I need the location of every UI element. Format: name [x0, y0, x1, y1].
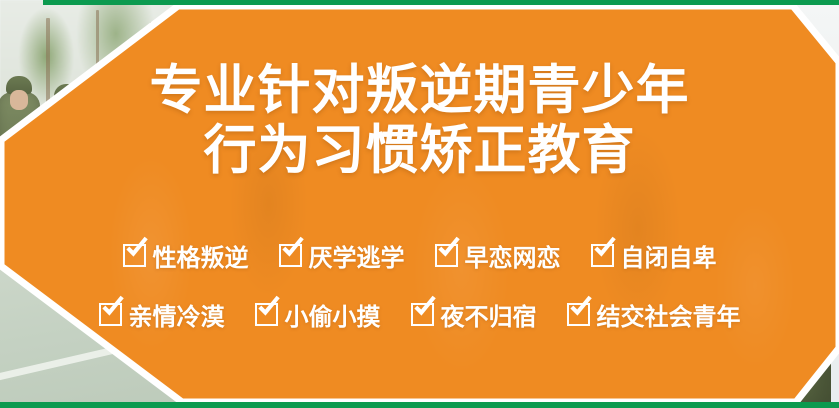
- feature-item[interactable]: 自闭自卑: [591, 238, 717, 273]
- feature-label: 夜不归宿: [441, 297, 537, 332]
- checkbox-checked-icon: [567, 303, 590, 326]
- promotional-banner: 专业针对叛逆期青少年 行为习惯矫正教育 性格叛逆 厌学逃学 早恋网恋: [0, 0, 839, 408]
- feature-label: 小偷小摸: [285, 297, 381, 332]
- checkbox-checked-icon: [591, 244, 614, 267]
- checkbox-checked-icon: [255, 303, 278, 326]
- feature-item[interactable]: 早恋网恋: [435, 238, 561, 273]
- feature-item[interactable]: 性格叛逆: [123, 238, 249, 273]
- feature-label: 性格叛逆: [153, 238, 249, 273]
- feature-item[interactable]: 结交社会青年: [567, 297, 741, 332]
- headline-line-1: 专业针对叛逆期青少年: [0, 64, 839, 118]
- checkbox-checked-icon: [411, 303, 434, 326]
- feature-item[interactable]: 厌学逃学: [279, 238, 405, 273]
- bottom-green-rule: [0, 402, 839, 408]
- feature-row: 亲情冷漠 小偷小摸 夜不归宿 结交社会青年: [0, 297, 839, 332]
- checkbox-checked-icon: [279, 244, 302, 267]
- feature-label: 亲情冷漠: [129, 297, 225, 332]
- checkbox-checked-icon: [435, 244, 458, 267]
- feature-label: 自闭自卑: [621, 238, 717, 273]
- feature-row: 性格叛逆 厌学逃学 早恋网恋 自闭自卑: [0, 238, 839, 273]
- feature-item[interactable]: 亲情冷漠: [99, 297, 225, 332]
- feature-item[interactable]: 夜不归宿: [411, 297, 537, 332]
- feature-label: 结交社会青年: [597, 297, 741, 332]
- checkbox-checked-icon: [99, 303, 122, 326]
- top-green-rule: [43, 0, 839, 5]
- feature-label: 早恋网恋: [465, 238, 561, 273]
- feature-label: 厌学逃学: [309, 238, 405, 273]
- checkbox-checked-icon: [123, 244, 146, 267]
- feature-item[interactable]: 小偷小摸: [255, 297, 381, 332]
- headline: 专业针对叛逆期青少年 行为习惯矫正教育: [0, 64, 839, 178]
- headline-line-2: 行为习惯矫正教育: [0, 124, 839, 178]
- feature-list: 性格叛逆 厌学逃学 早恋网恋 自闭自卑: [0, 238, 839, 356]
